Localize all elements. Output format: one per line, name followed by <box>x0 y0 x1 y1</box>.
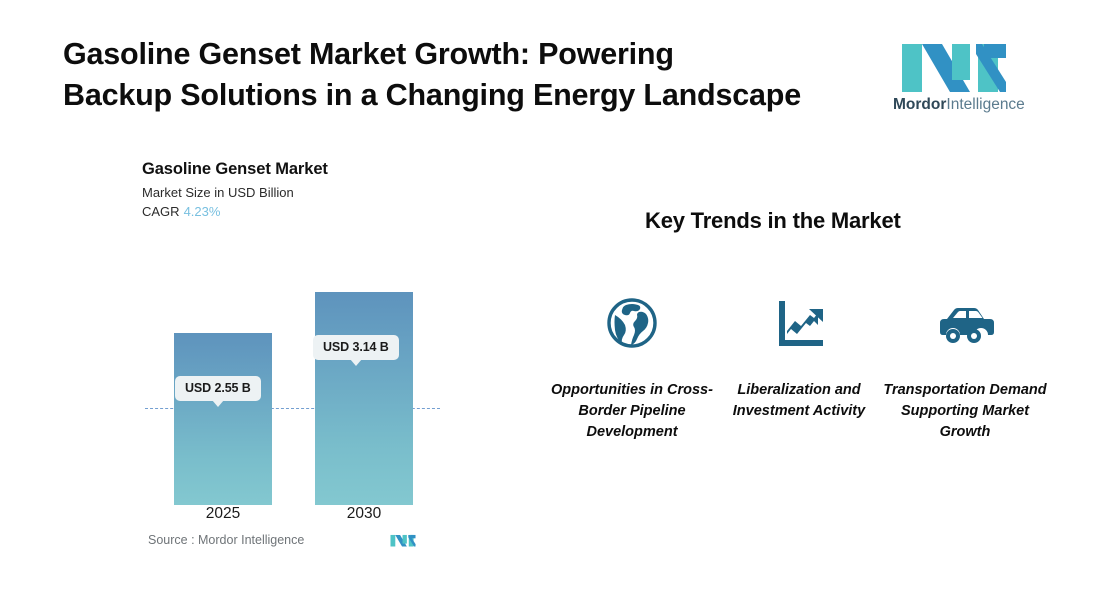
x-axis-label-2025: 2025 <box>174 505 272 523</box>
bar-chart-plot: USD 2.55 B USD 3.14 B <box>142 250 462 505</box>
growth-chart-icon <box>715 292 883 354</box>
mordor-intelligence-mark-icon <box>390 532 416 548</box>
infographic-canvas: Gasoline Genset Market Growth: Powering … <box>0 0 1114 606</box>
chart-title: Gasoline Genset Market <box>142 160 462 179</box>
mordor-intelligence-logo-icon <box>900 36 1008 94</box>
brand-name-light: Intelligence <box>946 96 1024 113</box>
page-title-line-2: Backup Solutions in a Changing Energy La… <box>63 75 873 116</box>
value-callout-2025: USD 2.55 B <box>175 376 261 401</box>
brand-wordmark: MordorIntelligence <box>893 96 1015 114</box>
trend-item-2: Liberalization and Investment Activity <box>715 292 883 422</box>
x-axis-label-2030: 2030 <box>315 505 413 523</box>
bar-2025 <box>174 333 272 505</box>
trend-item-3: Transportation Demand Supporting Market … <box>881 292 1049 443</box>
cagr-label: CAGR <box>142 204 180 219</box>
trend-item-1: Opportunities in Cross-Border Pipeline D… <box>548 292 716 443</box>
chart-panel: Gasoline Genset Market Market Size in US… <box>142 160 462 550</box>
trend-label-1: Opportunities in Cross-Border Pipeline D… <box>548 380 716 443</box>
trend-label-3: Transportation Demand Supporting Market … <box>881 380 1049 443</box>
brand-name-bold: Mordor <box>893 96 946 113</box>
car-icon <box>881 292 1049 354</box>
key-trends-heading: Key Trends in the Market <box>645 208 901 234</box>
page-title: Gasoline Genset Market Growth: Powering … <box>63 34 873 116</box>
bar-2030 <box>315 292 413 505</box>
x-axis-labels: 2025 2030 <box>142 505 462 529</box>
chart-cagr: CAGR4.23% <box>142 204 462 219</box>
chart-source: Source : Mordor Intelligence <box>148 532 468 548</box>
brand-logo: MordorIntelligence <box>893 36 1015 116</box>
page-title-line-1: Gasoline Genset Market Growth: Powering <box>63 34 873 75</box>
cagr-value: 4.23% <box>184 204 221 219</box>
chart-subtitle: Market Size in USD Billion <box>142 185 462 200</box>
trend-label-2: Liberalization and Investment Activity <box>715 380 883 422</box>
chart-source-text: Source : Mordor Intelligence <box>148 533 304 547</box>
globe-icon <box>548 292 716 354</box>
value-callout-2030: USD 3.14 B <box>313 335 399 360</box>
